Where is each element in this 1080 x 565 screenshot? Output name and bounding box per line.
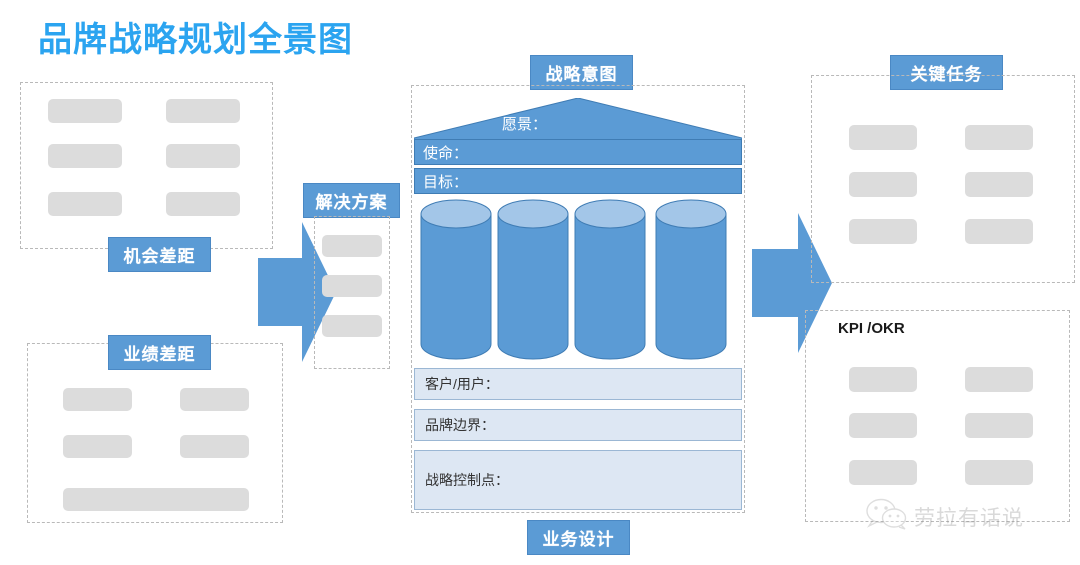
- performance-chip-1: [63, 388, 132, 411]
- key-task-chip-3: [849, 172, 917, 197]
- pillar-2: [497, 198, 569, 360]
- opportunity-chip-6: [166, 192, 240, 216]
- opportunity-chip-5: [48, 192, 122, 216]
- solution-chip-1: [322, 235, 382, 257]
- kpi-okr-label: KPI /OKR: [838, 320, 905, 337]
- key-task-chip-5: [849, 219, 917, 244]
- kpi-chip-3: [849, 413, 917, 438]
- temple-pediment: [414, 98, 742, 142]
- kpi-chip-1: [849, 367, 917, 392]
- badge-solution[interactable]: 解决方案: [303, 183, 400, 218]
- performance-chip-2: [180, 388, 249, 411]
- opportunity-chip-4: [166, 144, 240, 168]
- performance-chip-5: [63, 488, 249, 511]
- kpi-chip-5: [849, 460, 917, 485]
- pillar-3: [574, 198, 646, 360]
- brand-boundary-box: 品牌边界：: [414, 409, 742, 441]
- key-task-chip-4: [965, 172, 1033, 197]
- key-task-chip-6: [965, 219, 1033, 244]
- key-task-chip-2: [965, 125, 1033, 150]
- customer-user-box: 客户/用户：: [414, 368, 742, 400]
- opportunity-chip-3: [48, 144, 122, 168]
- page-title: 品牌战略规划全景图: [38, 12, 353, 61]
- kpi-chip-4: [965, 413, 1033, 438]
- solution-chip-3: [322, 315, 382, 337]
- mission-bar: 使命：: [414, 139, 742, 165]
- kpi-chip-6: [965, 460, 1033, 485]
- opportunity-chip-1: [48, 99, 122, 123]
- strategic-control-box: 战略控制点：: [414, 450, 742, 510]
- performance-chip-4: [180, 435, 249, 458]
- pillar-4: [655, 198, 727, 360]
- badge-performance-gap[interactable]: 业绩差距: [108, 335, 211, 370]
- slide-canvas: 品牌战略规划全景图 机会差距 业绩差距 解决方案 战略意图 愿景： 使命： 目标…: [0, 0, 1080, 565]
- solution-chip-2: [322, 275, 382, 297]
- badge-opportunity-gap[interactable]: 机会差距: [108, 237, 211, 272]
- kpi-chip-2: [965, 367, 1033, 392]
- badge-business-design[interactable]: 业务设计: [527, 520, 630, 555]
- key-task-chip-1: [849, 125, 917, 150]
- pillar-1: [420, 198, 492, 360]
- goal-bar: 目标：: [414, 168, 742, 194]
- opportunity-chip-2: [166, 99, 240, 123]
- performance-chip-3: [63, 435, 132, 458]
- vision-label: 愿景：: [502, 113, 547, 134]
